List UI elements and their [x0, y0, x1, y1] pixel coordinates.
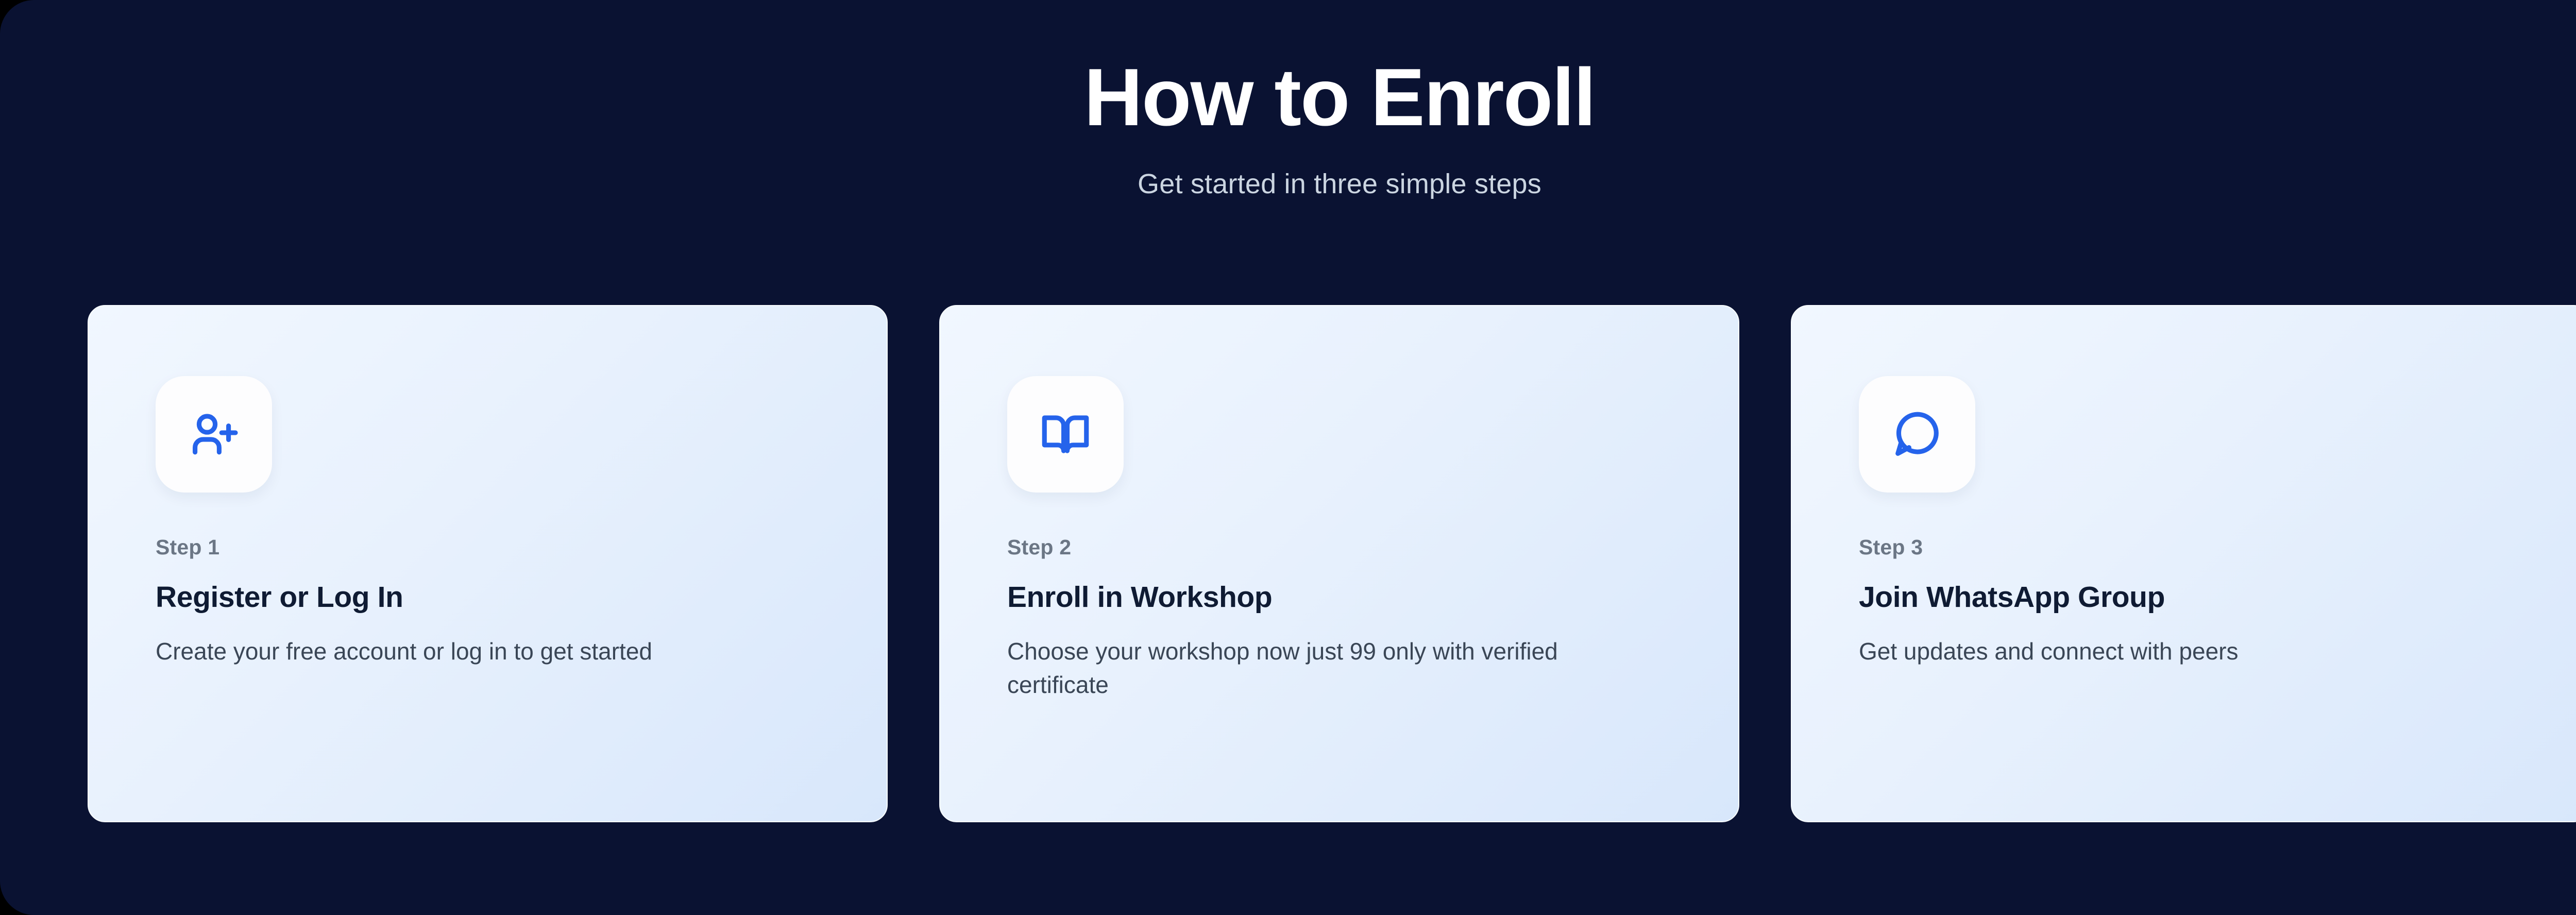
icon-tile-2: [1007, 376, 1124, 493]
section-header: How to Enroll Get started in three simpl…: [0, 0, 2576, 198]
step-card-3[interactable]: Step 3 Join WhatsApp Group Get updates a…: [1791, 305, 2576, 822]
icon-tile-1: [156, 376, 272, 493]
step-label-2: Step 2: [1007, 493, 1738, 558]
how-to-enroll-section: How to Enroll Get started in three simpl…: [0, 0, 2576, 915]
step-description-2: Choose your workshop now just 99 only wi…: [1007, 612, 1589, 702]
open-book-icon: [1039, 408, 1092, 461]
page-subtitle: Get started in three simple steps: [0, 138, 2576, 198]
step-description-1: Create your free account or log in to ge…: [156, 612, 769, 668]
step-description-3: Get updates and connect with peers: [1859, 612, 2441, 668]
steps-card-row: Step 1 Register or Log In Create your fr…: [88, 305, 2576, 822]
step-label-1: Step 1: [156, 493, 887, 558]
step-card-1[interactable]: Step 1 Register or Log In Create your fr…: [88, 305, 888, 822]
step-title-1: Register or Log In: [156, 558, 887, 612]
chat-bubble-icon: [1890, 408, 1944, 461]
step-label-3: Step 3: [1859, 493, 2576, 558]
page-title: How to Enroll: [0, 0, 2576, 138]
icon-tile-3: [1859, 376, 1975, 493]
step-card-2[interactable]: Step 2 Enroll in Workshop Choose your wo…: [939, 305, 1739, 822]
step-title-2: Enroll in Workshop: [1007, 558, 1738, 612]
step-title-3: Join WhatsApp Group: [1859, 558, 2576, 612]
user-plus-icon: [187, 408, 241, 461]
